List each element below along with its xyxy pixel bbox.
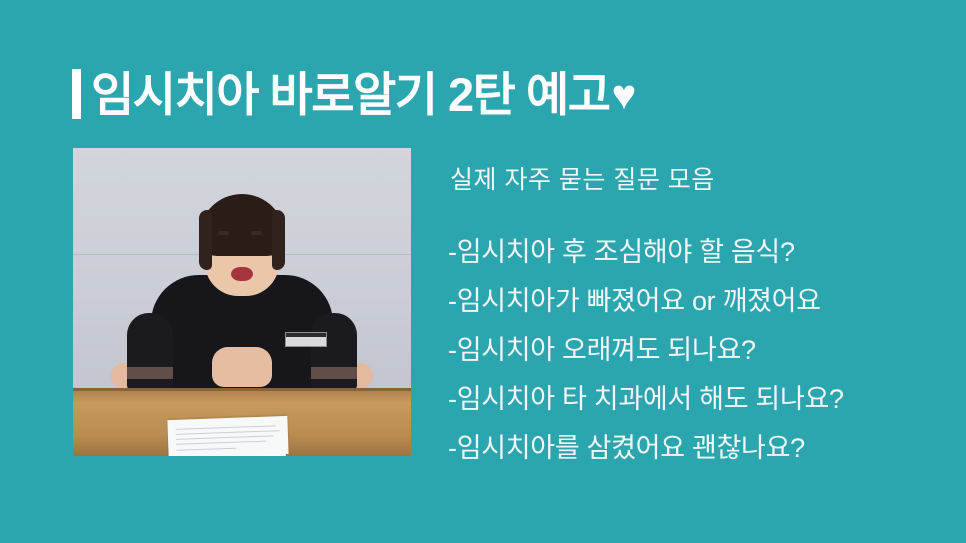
- question-list: -임시치아 후 조심해야 할 음식? -임시치아가 빠졌어요 or 깨졌어요 -…: [448, 228, 844, 473]
- left-sleeve: [127, 313, 173, 391]
- paper-text-line: [175, 430, 279, 435]
- left-sleeve-cuff: [127, 367, 173, 379]
- paper-sheet-front: [167, 416, 288, 456]
- paper-text-line: [176, 441, 266, 445]
- name-badge: [285, 332, 327, 347]
- speaker-photo: [73, 148, 411, 456]
- paper-text-line: [176, 448, 236, 451]
- desk-edge: [73, 388, 411, 391]
- right-eye: [251, 231, 262, 235]
- heart-icon: ♥: [611, 74, 636, 116]
- list-item: -임시치아를 삼켰어요 괜찮나요?: [448, 424, 844, 473]
- list-item: -임시치아가 빠졌어요 or 깨졌어요: [448, 277, 844, 326]
- paper-text-line: [175, 425, 275, 429]
- clasped-hands: [212, 347, 272, 387]
- mouth: [231, 267, 253, 281]
- page-title: 임시치아 바로알기 2탄 예고 ♥: [72, 58, 636, 130]
- left-eye: [218, 231, 229, 235]
- right-sleeve-cuff: [311, 367, 357, 379]
- subheading: 실제 자주 묻는 질문 모음: [450, 160, 715, 196]
- wooden-desk: [73, 388, 411, 456]
- list-item: -임시치아 타 치과에서 해도 되나요?: [448, 375, 844, 424]
- slide-canvas: 임시치아 바로알기 2탄 예고 ♥: [0, 0, 966, 543]
- list-item: -임시치아 오래껴도 되나요?: [448, 326, 844, 375]
- hair-left-side: [199, 210, 212, 270]
- list-item: -임시치아 후 조심해야 할 음식?: [448, 228, 844, 277]
- title-accent-bar: [72, 69, 81, 119]
- hair-right-side: [272, 210, 285, 270]
- paper-text-line: [176, 435, 274, 439]
- name-badge-strip: [286, 333, 326, 337]
- title-text: 임시치아 바로알기 2탄 예고: [91, 71, 609, 118]
- right-sleeve: [311, 313, 357, 391]
